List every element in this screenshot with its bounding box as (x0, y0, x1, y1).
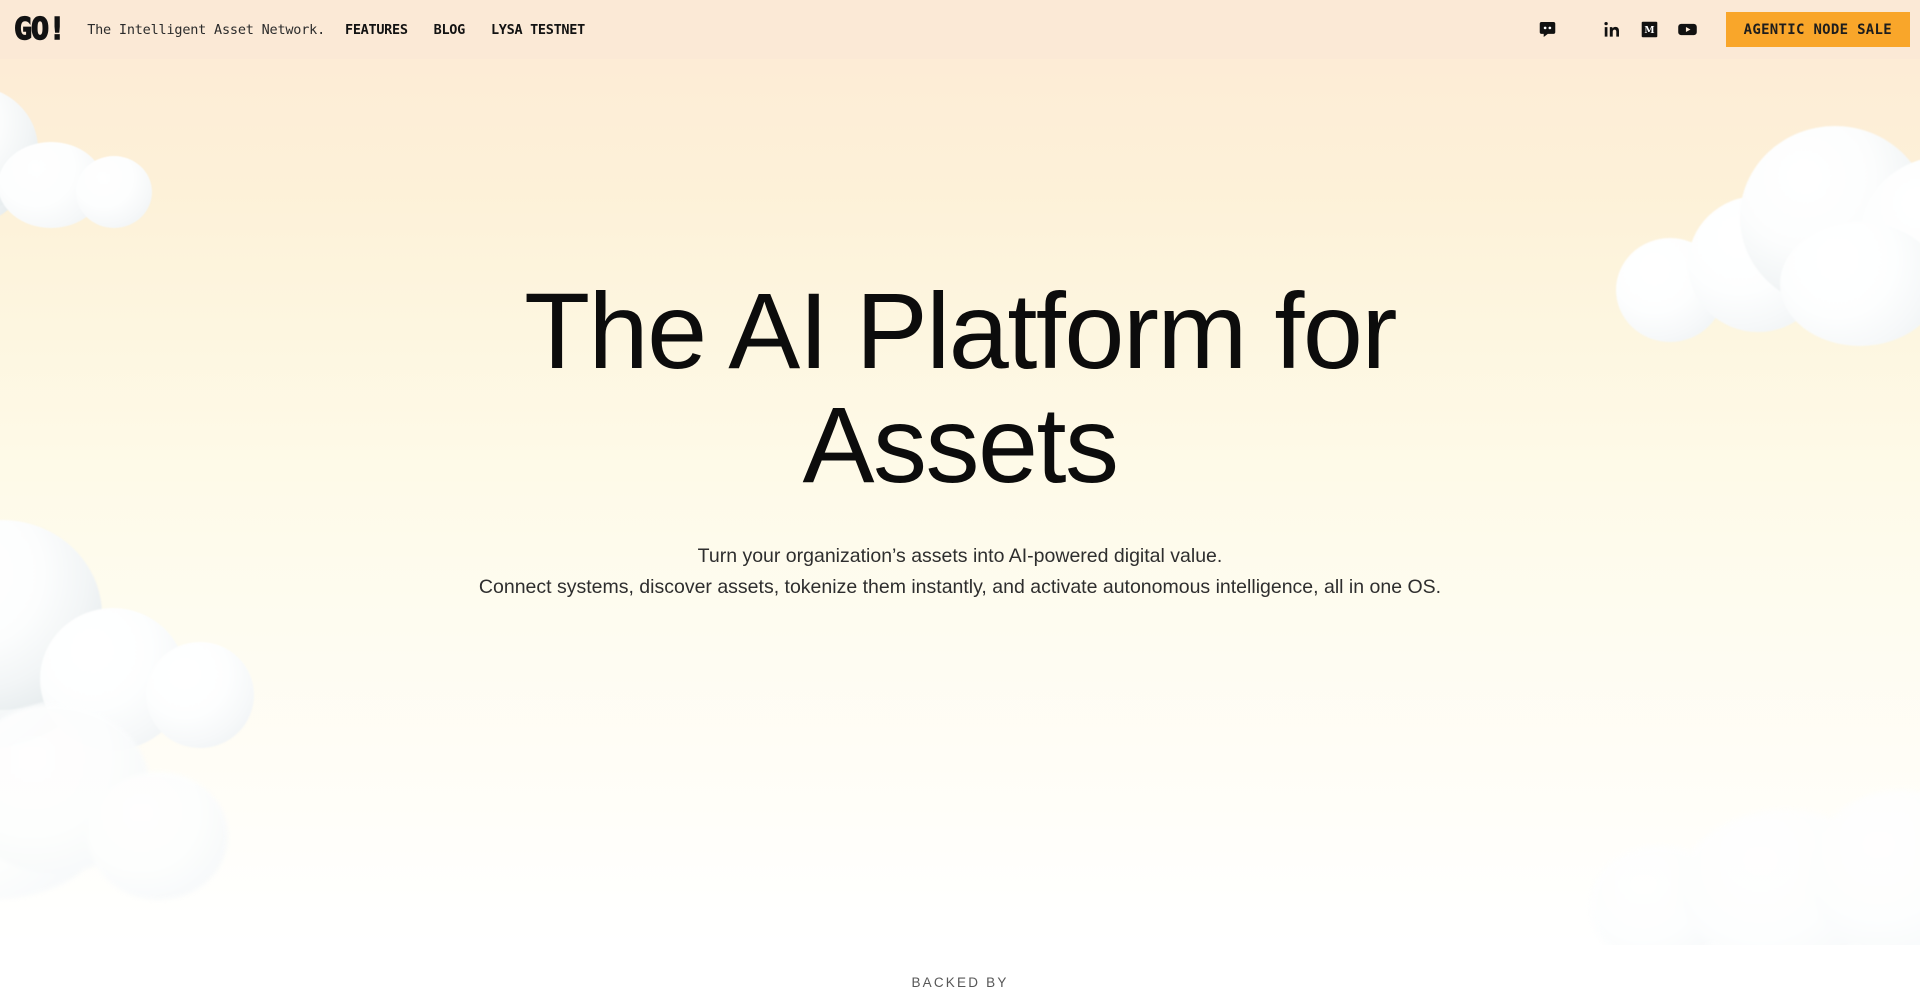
logo[interactable]: GO! (14, 15, 65, 45)
cloud-bottom-right-faint (1560, 790, 1920, 945)
cloud-puff (1616, 238, 1724, 342)
cloud-puff (146, 642, 254, 748)
navbar-left-group: GO! The Intelligent Asset Network. FEATU… (0, 15, 585, 45)
cloud-upper-right (1630, 126, 1920, 346)
tagline: The Intelligent Asset Network. (87, 22, 325, 38)
youtube-icon[interactable] (1677, 19, 1698, 40)
backed-by-label: BACKED BY (0, 975, 1920, 990)
cloud-puff (0, 104, 30, 228)
cloud-puff (0, 566, 100, 750)
cloud-puff (0, 740, 110, 900)
nav-link-lysa-testnet[interactable]: LYSA TESTNET (491, 22, 585, 38)
cloud-puff (1810, 790, 1920, 945)
nav-link-features[interactable]: FEATURES (345, 22, 408, 38)
cloud-puff (0, 86, 38, 212)
cloud-puff (1740, 126, 1920, 308)
cloud-puff (1688, 196, 1828, 332)
cloud-upper-left (0, 88, 210, 228)
cloud-puff (1680, 810, 1890, 945)
cloud-puff (88, 772, 228, 900)
linkedin-icon[interactable] (1603, 20, 1622, 39)
cloud-puff (1590, 846, 1730, 945)
cloud-puff (0, 142, 104, 228)
cloud-bottom-left-wisp (0, 700, 300, 900)
cloud-puff (0, 704, 150, 874)
navbar-right-group: M AGENTIC NODE SALE (1538, 0, 1920, 59)
cloud-puff (1780, 222, 1920, 346)
cloud-puff (0, 520, 102, 710)
agentic-node-sale-button[interactable]: AGENTIC NODE SALE (1726, 12, 1910, 47)
cloud-puff (40, 608, 186, 750)
medium-icon[interactable]: M (1641, 21, 1658, 38)
navbar: GO! The Intelligent Asset Network. FEATU… (0, 0, 1920, 59)
cloud-puff (1858, 156, 1920, 326)
hero-section (0, 0, 1920, 945)
svg-text:M: M (1644, 25, 1654, 36)
cloud-puff (76, 156, 152, 228)
cloud-lower-left (0, 520, 290, 750)
discord-icon[interactable] (1538, 20, 1557, 39)
nav-link-blog[interactable]: BLOG (434, 22, 465, 38)
